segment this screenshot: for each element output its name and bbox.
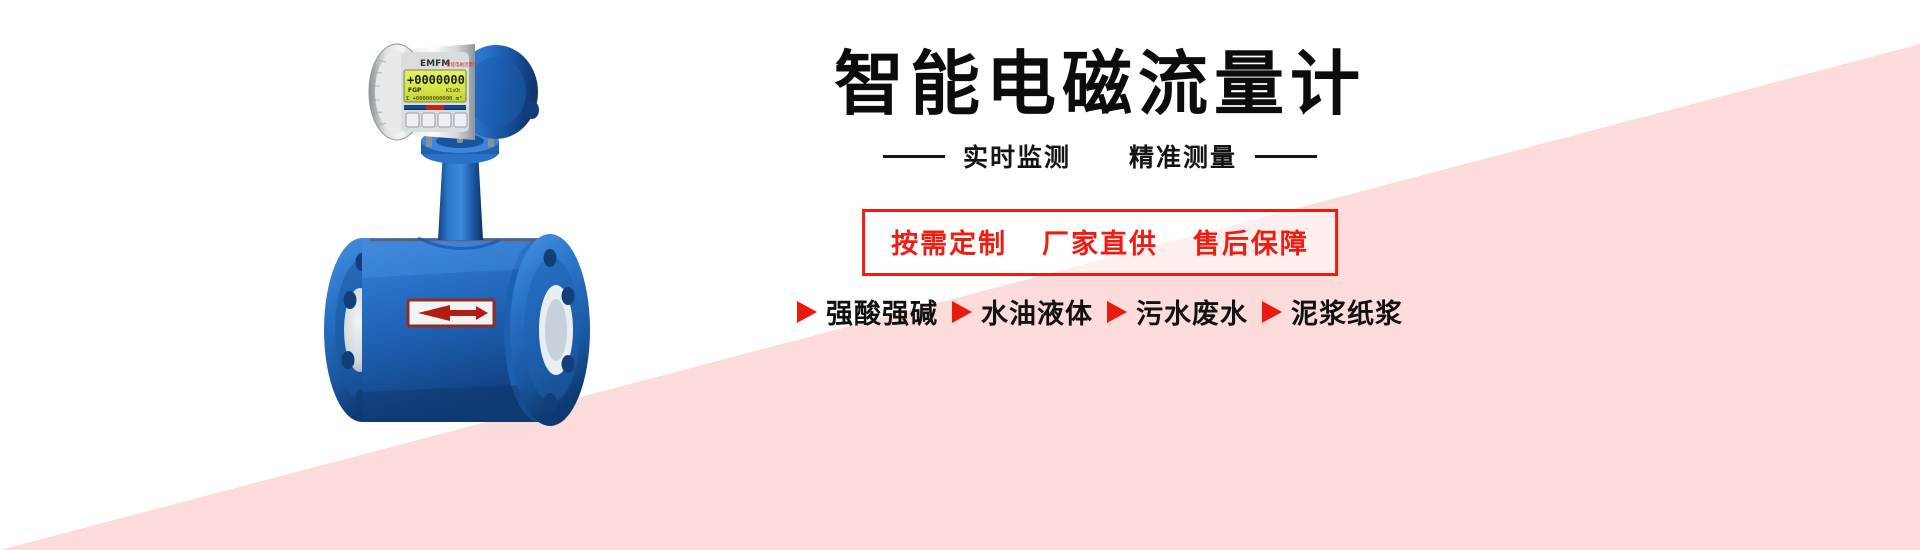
feature-item-4: 泥浆纸浆	[1262, 292, 1403, 331]
flange-right	[510, 234, 590, 426]
subtitle-row: 实时监测 精准测量	[600, 138, 1600, 174]
promise-item-3: 售后保障	[1193, 229, 1309, 260]
triangle-right-icon	[797, 301, 817, 323]
lcd-unit-left: FGP	[408, 87, 422, 94]
feature-label-4: 泥浆纸浆	[1291, 292, 1403, 331]
promise-item-1: 按需定制	[891, 229, 1007, 260]
lcd-totalizer: Σ +00000000000 m³	[406, 95, 462, 102]
triangle-right-icon	[1262, 301, 1282, 323]
feature-label-3: 污水废水	[1136, 292, 1248, 331]
triangle-right-icon	[1107, 301, 1127, 323]
feature-list: 强酸强碱 水油液体 污水废水 泥浆纸浆	[600, 292, 1600, 331]
subtitle-rule-left	[883, 155, 945, 158]
flow-direction-plate	[408, 300, 494, 326]
subtitle-text-a: 实时监测	[963, 138, 1071, 174]
promise-item-2: 厂家直供	[1042, 229, 1158, 260]
transmitter-head: EMFM 智能电磁流量计 +0000000 FGP K1s0t Σ +00000…	[369, 44, 539, 140]
feature-label-1: 强酸强碱	[826, 292, 938, 331]
lcd-unit-right: K1s0t	[446, 88, 460, 94]
feature-item-3: 污水废水	[1107, 292, 1248, 331]
promise-box: 按需定制 厂家直供 售后保障	[862, 209, 1338, 276]
promo-banner: EMFM 智能电磁流量计 +0000000 FGP K1s0t Σ +00000…	[0, 0, 1920, 550]
subtitle-rule-right	[1255, 155, 1317, 158]
page-title: 智能电磁流量计	[600, 48, 1600, 122]
feature-label-2: 水油液体	[981, 292, 1093, 331]
transmitter-model-text: 智能电磁流量计	[446, 61, 478, 68]
subtitle-text-b: 精准测量	[1129, 138, 1237, 174]
feature-item-1: 强酸强碱	[797, 292, 938, 331]
feature-item-2: 水油液体	[952, 292, 1093, 331]
banner-text-column: 智能电磁流量计 实时监测 精准测量 按需定制 厂家直供 售后保障 强酸强碱 水油…	[600, 0, 1600, 550]
triangle-right-icon	[952, 301, 972, 323]
lcd-main-value: +0000000	[407, 73, 465, 87]
